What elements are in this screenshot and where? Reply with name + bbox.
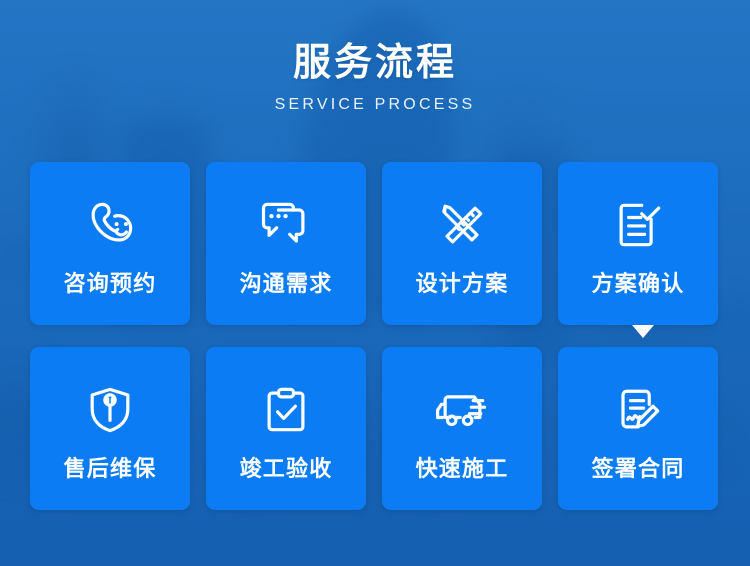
arrow-down-icon bbox=[632, 325, 654, 338]
process-card-label: 沟通需求 bbox=[240, 273, 333, 295]
process-card-label: 咨询预约 bbox=[64, 273, 157, 295]
phone-smile-icon bbox=[78, 193, 142, 257]
clipboard-check-icon bbox=[254, 378, 318, 442]
chat-bubbles-icon bbox=[254, 193, 318, 257]
process-row-bottom: 售后维保 竣工验收 bbox=[30, 347, 720, 510]
process-card-construction[interactable]: 快速施工 bbox=[382, 347, 542, 510]
document-check-icon bbox=[606, 193, 670, 257]
contract-sign-icon bbox=[606, 378, 670, 442]
process-card-label: 方案确认 bbox=[592, 273, 685, 295]
process-card-label: 设计方案 bbox=[416, 273, 509, 295]
page-subtitle: SERVICE PROCESS bbox=[0, 96, 750, 114]
process-card-contract[interactable]: 签署合同 bbox=[558, 347, 718, 510]
process-card-label: 售后维保 bbox=[64, 458, 157, 480]
process-card-plan-confirm[interactable]: 方案确认 bbox=[558, 162, 718, 325]
process-card-communication[interactable]: 沟通需求 bbox=[206, 162, 366, 325]
process-card-label: 签署合同 bbox=[592, 458, 685, 480]
process-card-design[interactable]: 设计方案 bbox=[382, 162, 542, 325]
process-card-label: 竣工验收 bbox=[240, 458, 333, 480]
process-card-label: 快速施工 bbox=[416, 458, 509, 480]
delivery-truck-icon bbox=[430, 378, 494, 442]
process-card-consultation[interactable]: 咨询预约 bbox=[30, 162, 190, 325]
section-header: 服务流程 SERVICE PROCESS bbox=[0, 0, 750, 114]
process-row-top: 咨询预约 沟通需求 bbox=[30, 162, 720, 325]
process-card-after-sales[interactable]: 售后维保 bbox=[30, 347, 190, 510]
service-process-section: 服务流程 SERVICE PROCESS 咨询预约 bbox=[0, 0, 750, 566]
page-title: 服务流程 bbox=[0, 44, 750, 82]
shield-wrench-icon bbox=[78, 378, 142, 442]
process-card-acceptance[interactable]: 竣工验收 bbox=[206, 347, 366, 510]
pencil-ruler-icon bbox=[430, 193, 494, 257]
